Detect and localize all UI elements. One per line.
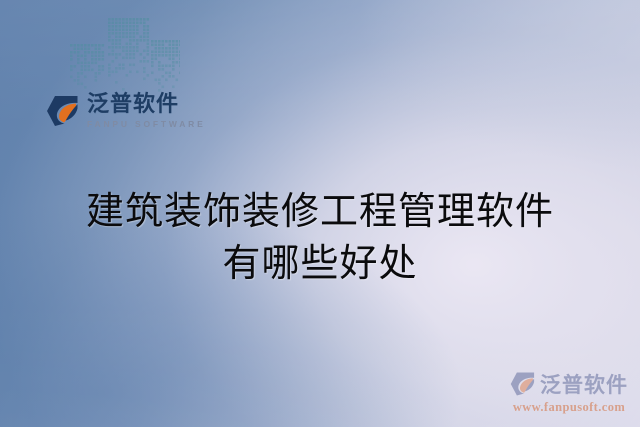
fanpu-hexagon-logo-watermark-icon (510, 371, 536, 397)
brand-wordmark: 泛普软件 FANPU SOFTWARE (87, 94, 206, 129)
page-title-line-1: 建筑装饰装修工程管理软件 (0, 186, 640, 238)
brand-logo: 泛普软件 FANPU SOFTWARE (46, 94, 206, 129)
page-title-line-2: 有哪些好处 (0, 238, 640, 290)
fanpu-hexagon-logo-icon (46, 94, 80, 128)
watermark-name-cn: 泛普软件 (540, 369, 628, 399)
brand-name-en: FANPU SOFTWARE (87, 120, 206, 129)
poster-canvas: 泛普软件 FANPU SOFTWARE 建筑装饰装修工程管理软件 有哪些好处 泛… (0, 0, 640, 427)
page-title: 建筑装饰装修工程管理软件 有哪些好处 (0, 186, 640, 289)
watermark: 泛普软件 www.fanpusoft.com (510, 369, 628, 415)
watermark-url: www.fanpusoft.com (513, 400, 625, 415)
pixel-skyline-icon (68, 10, 180, 92)
brand-name-cn: 泛普软件 (87, 94, 206, 116)
watermark-row: 泛普软件 (510, 369, 628, 399)
